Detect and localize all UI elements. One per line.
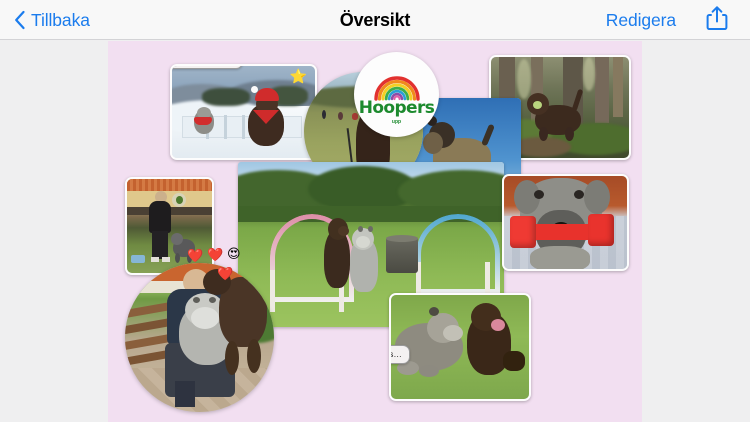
collage-photo-snow-dogs[interactable]: Pudel med luvan på sned… ⭐ — [170, 64, 317, 160]
hoopers-logo-text: Hoopers — [354, 98, 439, 118]
share-button[interactable] — [706, 0, 728, 40]
navigation-bar: Tillbaka Översikt Redigera — [0, 0, 750, 40]
edit-button[interactable]: Redigera — [606, 0, 676, 40]
collage-caption-bubble[interactable]: Redo för lite Hoopers… — [389, 345, 410, 364]
collage-canvas[interactable]: Pudel med luvan på sned… ⭐ — [108, 41, 642, 422]
hoopers-logo-subtext: upp — [354, 119, 439, 125]
hoopers-logo-badge[interactable]: Hoopers upp — [354, 52, 439, 137]
collage-photo-two-dogs-grass[interactable]: Redo för lite Hoopers… — [389, 293, 531, 401]
collage-photo-man-bench[interactable] — [125, 263, 274, 412]
heart-sticker[interactable]: ❤️ — [217, 267, 233, 280]
app-screen: Tillbaka Översikt Redigera — [0, 0, 750, 422]
share-icon — [706, 5, 728, 36]
face-sticker[interactable]: 😍 — [227, 247, 241, 260]
collage-caption-bubble[interactable]: Pudel med luvan på sned… — [170, 64, 243, 69]
heart-sticker[interactable]: ❤️ — [187, 249, 203, 262]
heart-sticker[interactable]: ❤️ — [207, 248, 223, 261]
collage-photo-red-toy-schnauzer[interactable] — [502, 174, 629, 271]
